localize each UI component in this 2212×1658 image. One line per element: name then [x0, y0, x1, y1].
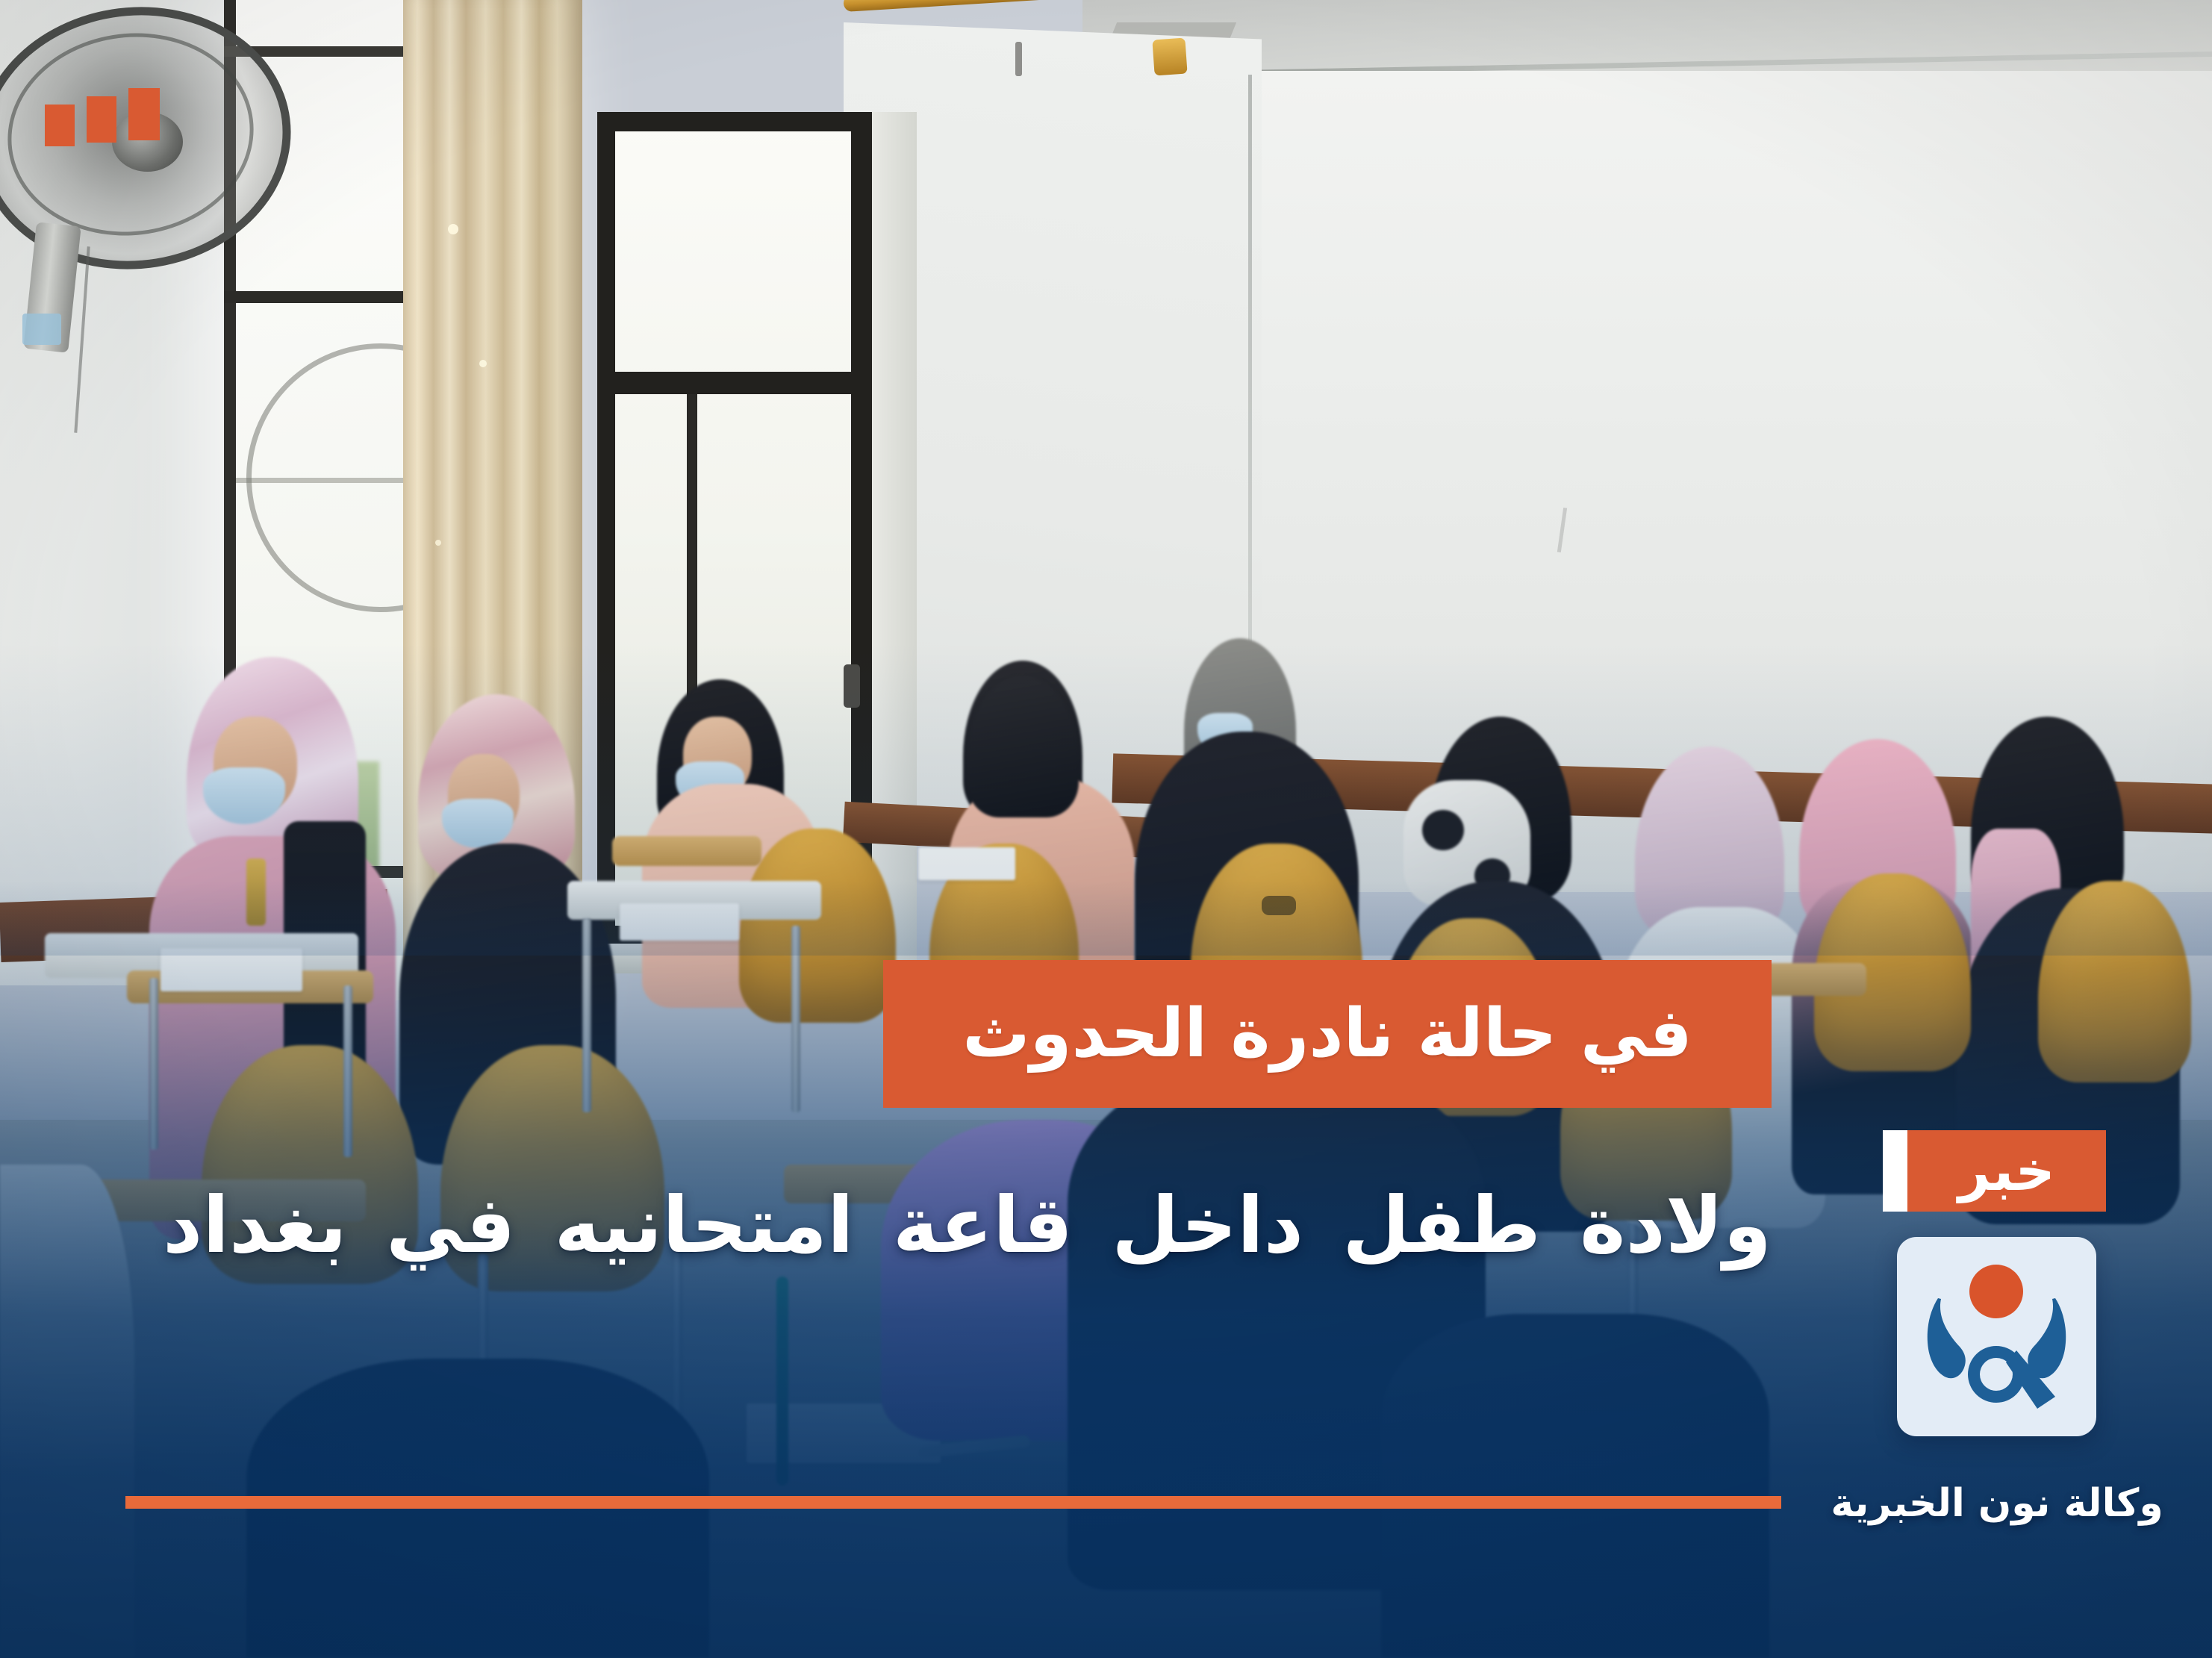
- kicker-banner: في حالة نادرة الحدوث: [883, 960, 1772, 1108]
- news-badge-tab: [1883, 1130, 1907, 1212]
- news-badge-box: خبر: [1907, 1130, 2106, 1212]
- divider-rule: [125, 1496, 1781, 1509]
- news-badge: خبر: [1883, 1130, 2106, 1212]
- kicker-text: في حالة نادرة الحدوث: [962, 1000, 1692, 1068]
- bar-1: [128, 88, 160, 140]
- agency-name: وكالة نون الخبرية: [1807, 1482, 2187, 1527]
- bar-3: [45, 105, 75, 146]
- news-badge-label: خبر: [1958, 1144, 2055, 1199]
- headline: ولادة طفل داخل قاعة امتحانيه في بغداد: [122, 1174, 1772, 1277]
- bar-2: [87, 96, 116, 143]
- photo-vignette: [0, 0, 2212, 1658]
- agency-logo: [1897, 1237, 2096, 1436]
- news-card: في حالة نادرة الحدوث ولادة طفل داخل قاعة…: [0, 0, 2212, 1658]
- three-bars-mark: [45, 88, 160, 146]
